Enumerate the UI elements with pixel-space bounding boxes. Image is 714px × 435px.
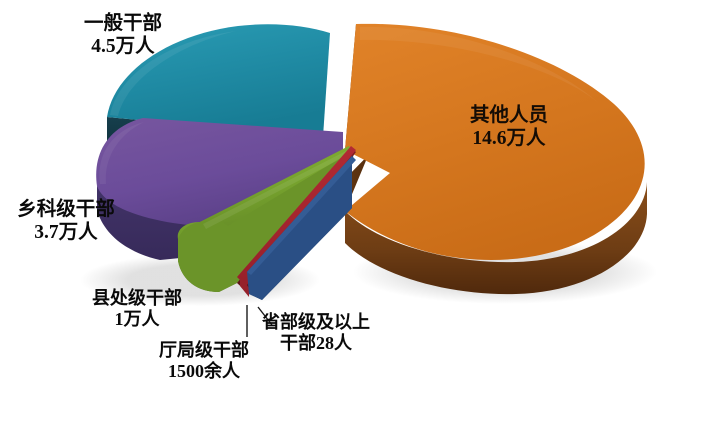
label-bureau-name: 厅局级干部: [142, 340, 266, 361]
label-other-value: 14.6万人: [443, 127, 575, 150]
label-other-personnel: 其他人员 14.6万人: [443, 104, 575, 150]
label-county-name: 县处级干部: [78, 288, 196, 309]
label-township-name: 乡科级干部: [4, 198, 128, 221]
label-provincial-ministerial-and-above: 省部级及以上 干部28人: [262, 312, 370, 354]
label-bureau-level-cadres: 厅局级干部 1500余人: [142, 340, 266, 382]
label-other-name: 其他人员: [443, 104, 575, 127]
label-general-cadres-name: 一般干部: [58, 12, 188, 35]
label-provincial-value: 干部28人: [262, 333, 370, 354]
label-county-division-level-cadres: 县处级干部 1万人: [78, 288, 196, 330]
label-bureau-value: 1500余人: [142, 361, 266, 382]
label-township-section-level-cadres: 乡科级干部 3.7万人: [4, 198, 128, 244]
label-provincial-name: 省部级及以上: [262, 312, 370, 333]
pie-chart: 一般干部 4.5万人 乡科级干部 3.7万人 县处级干部 1万人 厅局级干部 1…: [0, 0, 714, 435]
label-township-value: 3.7万人: [4, 221, 128, 244]
label-county-value: 1万人: [78, 309, 196, 330]
label-general-cadres-value: 4.5万人: [58, 35, 188, 58]
slice-other-personnel[interactable]: [345, 24, 647, 294]
label-general-cadres: 一般干部 4.5万人: [58, 12, 188, 58]
